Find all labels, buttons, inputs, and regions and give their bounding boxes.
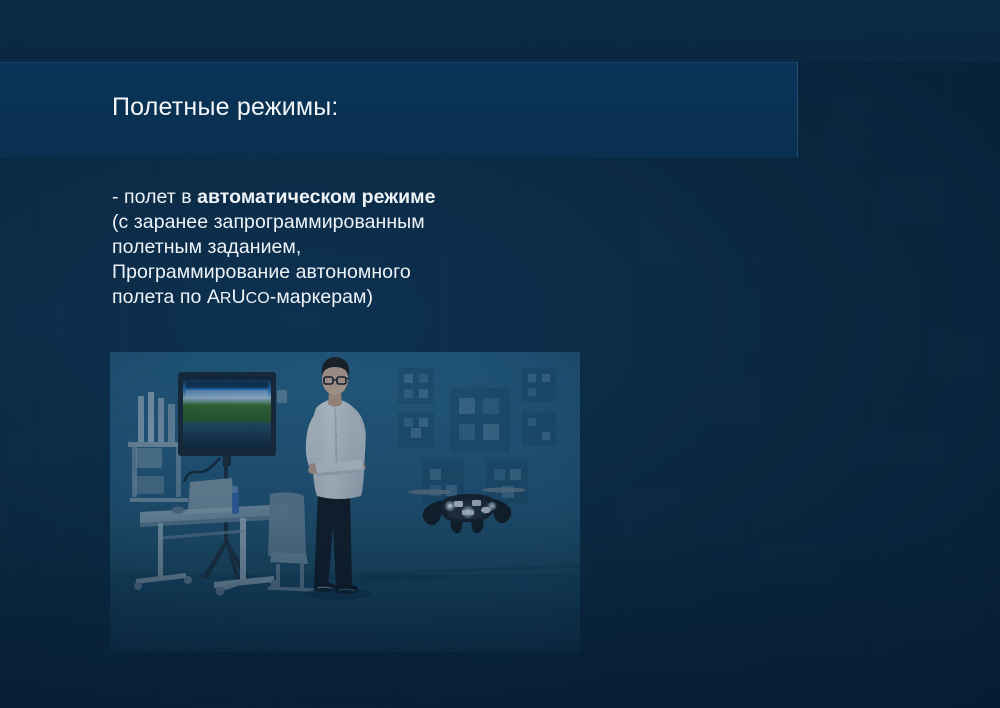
aruco-r: R bbox=[220, 290, 232, 307]
aruco-co: CO bbox=[246, 290, 270, 307]
body-line-5-prefix: полета по bbox=[112, 286, 207, 308]
body-line-5: полета по ARUCO-маркерам) bbox=[112, 285, 582, 311]
body-line-4: Программирование автономного bbox=[112, 260, 582, 285]
slide-canvas: Полетные режимы: - полет в автоматическо… bbox=[0, 0, 1000, 708]
background-top-tint bbox=[0, 0, 1000, 62]
aruco-u: U bbox=[232, 286, 246, 308]
body-line-1: - полет в автоматическом режиме bbox=[112, 185, 582, 210]
body-line-1-bold: автоматическом режиме bbox=[197, 186, 435, 208]
body-line-1-prefix: - полет в bbox=[112, 186, 197, 208]
aruco-a: A bbox=[207, 286, 220, 308]
page-title: Полетные режимы: bbox=[112, 93, 339, 122]
lab-photo bbox=[110, 352, 580, 652]
body-line-5-suffix: -маркерам) bbox=[270, 286, 373, 308]
body-line-3: полетным заданием, bbox=[112, 235, 582, 260]
body-line-2: (с заранее запрограммированным bbox=[112, 210, 582, 235]
body-text: - полет в автоматическом режиме (с заран… bbox=[112, 185, 582, 311]
lab-photo-illustration bbox=[110, 352, 580, 652]
